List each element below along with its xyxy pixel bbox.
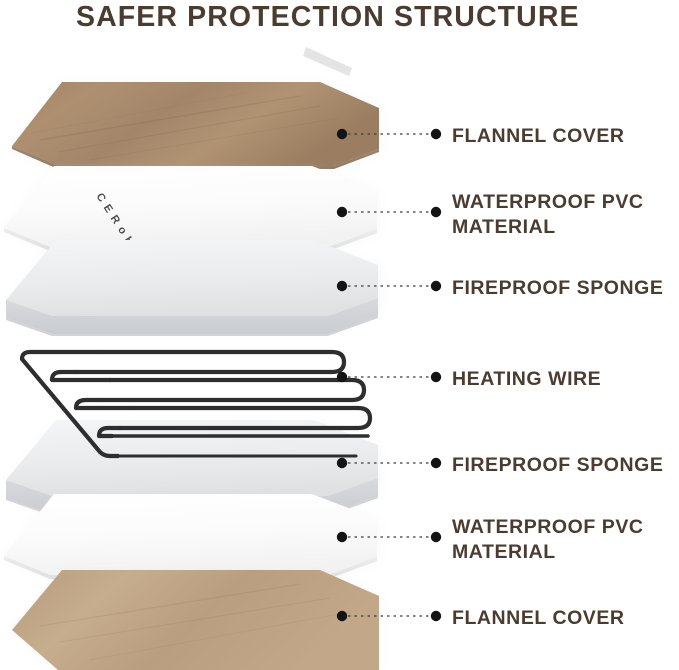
diagram-page: SAFER PROTECTION STRUCTURE (0, 0, 679, 670)
exploded-layer-stack: C E R o H S F C (0, 0, 679, 670)
sponge-bottom-face (6, 420, 378, 496)
power-cable (303, 47, 352, 76)
callout-label-fireproof-sponge-bottom: FIREPROOF SPONGE (452, 453, 663, 478)
leader-dot-end (431, 129, 441, 139)
pvc-bottom-face (4, 494, 377, 575)
leader-dot-start (337, 207, 347, 217)
leader-dot-end (431, 207, 441, 217)
layer-flannel-cover-top (12, 47, 380, 169)
leader-dot-end (431, 372, 441, 382)
leader-dot-start (337, 129, 347, 139)
leader-dot-start (337, 611, 347, 621)
callout-label-waterproof-pvc-bottom: WATERPROOF PVC MATERIAL (452, 515, 644, 565)
leader-dot-end (431, 611, 441, 621)
flannel-top-face (12, 82, 379, 166)
leader-dot-start (337, 458, 347, 468)
callout-label-waterproof-pvc-top: WATERPROOF PVC MATERIAL (452, 190, 644, 240)
leader-dot-start (337, 281, 347, 291)
leader-dot-start (337, 532, 347, 542)
layer-flannel-cover-bottom (12, 570, 380, 670)
leader-dot-end (431, 458, 441, 468)
layer-fireproof-sponge-top (6, 240, 379, 336)
heating-wire-run-2 (98, 380, 364, 400)
heating-wire-run-1 (75, 352, 344, 372)
leader-dot-end (431, 281, 441, 291)
leader-dot-start (337, 372, 347, 382)
sponge-top-face (6, 240, 378, 316)
pvc-top-face (4, 166, 377, 247)
callout-label-heating-wire: HEATING WIRE (452, 367, 601, 392)
callout-label-fireproof-sponge-top: FIREPROOF SPONGE (452, 276, 663, 301)
callout-label-flannel-cover-bottom: FLANNEL COVER (452, 606, 625, 631)
callout-label-flannel-cover-top: FLANNEL COVER (452, 124, 625, 149)
leader-dot-end (431, 532, 441, 542)
layer-waterproof-pvc-bottom (4, 494, 378, 579)
